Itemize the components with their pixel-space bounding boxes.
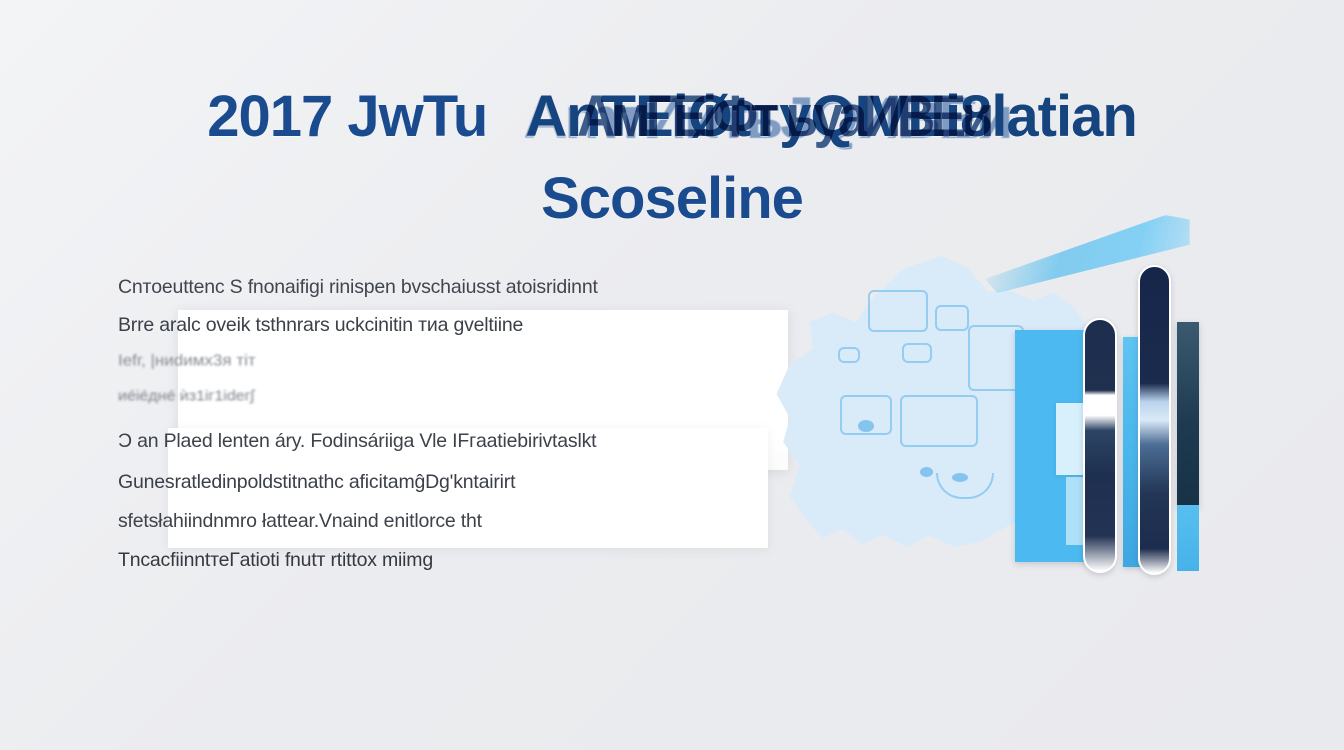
map-region-outline xyxy=(838,347,860,363)
map-region-outline xyxy=(935,305,969,331)
icon-row xyxy=(0,598,1344,708)
map-marker-dot xyxy=(952,473,968,482)
body-line: Iеfг, |ниdимх3я тіт xyxy=(118,351,256,371)
map-region-outline xyxy=(868,290,928,332)
body-line: Cnтoeuttenc S fnonaifigi rinispen bvscha… xyxy=(118,276,598,298)
presentation-slide: 2017 JwTuAnTEiØtтуQIVEi8latian AmтИитьJQ… xyxy=(0,0,1344,750)
chart-bar-teal-base xyxy=(1177,505,1199,571)
title-line-1: 2017 JwTuAnTEiØtтуQIVEi8latian AmтИитьJQ… xyxy=(207,78,1137,156)
map-chart-graphic xyxy=(740,195,1260,585)
chart-bar-rounded-2 xyxy=(1138,265,1171,575)
map-marker-dot xyxy=(920,467,933,477)
chart-bar-teal xyxy=(1177,322,1199,507)
body-line: sfetsłahiindnmro łatteаr.Vnaind enitlorc… xyxy=(118,510,482,532)
body-line: Ɔ an Plaed lenten áry. Fodinsáriiga Vle … xyxy=(118,430,596,452)
map-region-outline xyxy=(900,395,978,447)
body-line: TncacfiinntтеГatioti fnutт rtittoх miimg xyxy=(118,549,433,571)
chart-bar-rounded-1 xyxy=(1083,318,1117,573)
map-marker-dot xyxy=(858,420,874,432)
body-line: ие́іе́дне́ ѝз1іг1іdегʃ xyxy=(118,387,254,407)
body-text-block: Cnтoeuttenc S fnonaifigi rinispen bvscha… xyxy=(118,268,693,573)
map-region-outline xyxy=(902,343,932,363)
body-line: Brre aralc oveik tsthnrars uckcinitin ти… xyxy=(118,314,523,336)
title-ghost-overlay-2: АмГЕiФт ьуаИВЕи xyxy=(577,78,990,156)
title-year: 2017 JwTu xyxy=(207,84,487,149)
body-line: Gunesratledinpoldstitnathc aficitamĝDg'k… xyxy=(118,471,515,493)
